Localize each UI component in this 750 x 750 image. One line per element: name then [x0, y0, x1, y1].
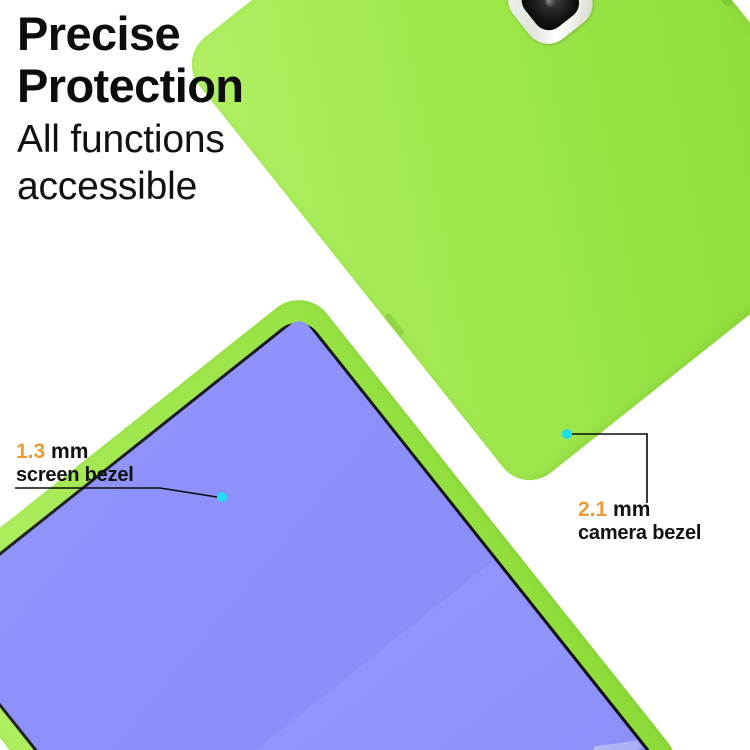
annotation-caption: camera bezel — [578, 522, 701, 545]
headline-line-2: Protection — [17, 60, 243, 112]
annotation-value-row: 1.3 mm — [16, 440, 134, 464]
subheadline-line-2: accessible — [17, 163, 243, 210]
annotation-camera-bezel: 2.1 mm camera bezel — [578, 498, 701, 545]
headline-block: Precise Protection All functions accessi… — [17, 8, 243, 210]
annotation-unit: mm — [613, 498, 650, 521]
annotation-value: 1.3 — [16, 440, 45, 463]
product-feature-image: Precise Protection All functions accessi… — [0, 0, 750, 750]
headline-line-1: Precise — [17, 8, 243, 60]
annotation-screen-bezel: 1.3 mm screen bezel — [16, 440, 134, 487]
annotation-caption: screen bezel — [16, 464, 134, 487]
camera-lens-glint — [543, 0, 558, 9]
subheadline-line-1: All functions — [17, 116, 243, 163]
annotation-value: 2.1 — [578, 498, 607, 521]
annotation-value-row: 2.1 mm — [578, 498, 701, 522]
annotation-unit: mm — [51, 440, 88, 463]
